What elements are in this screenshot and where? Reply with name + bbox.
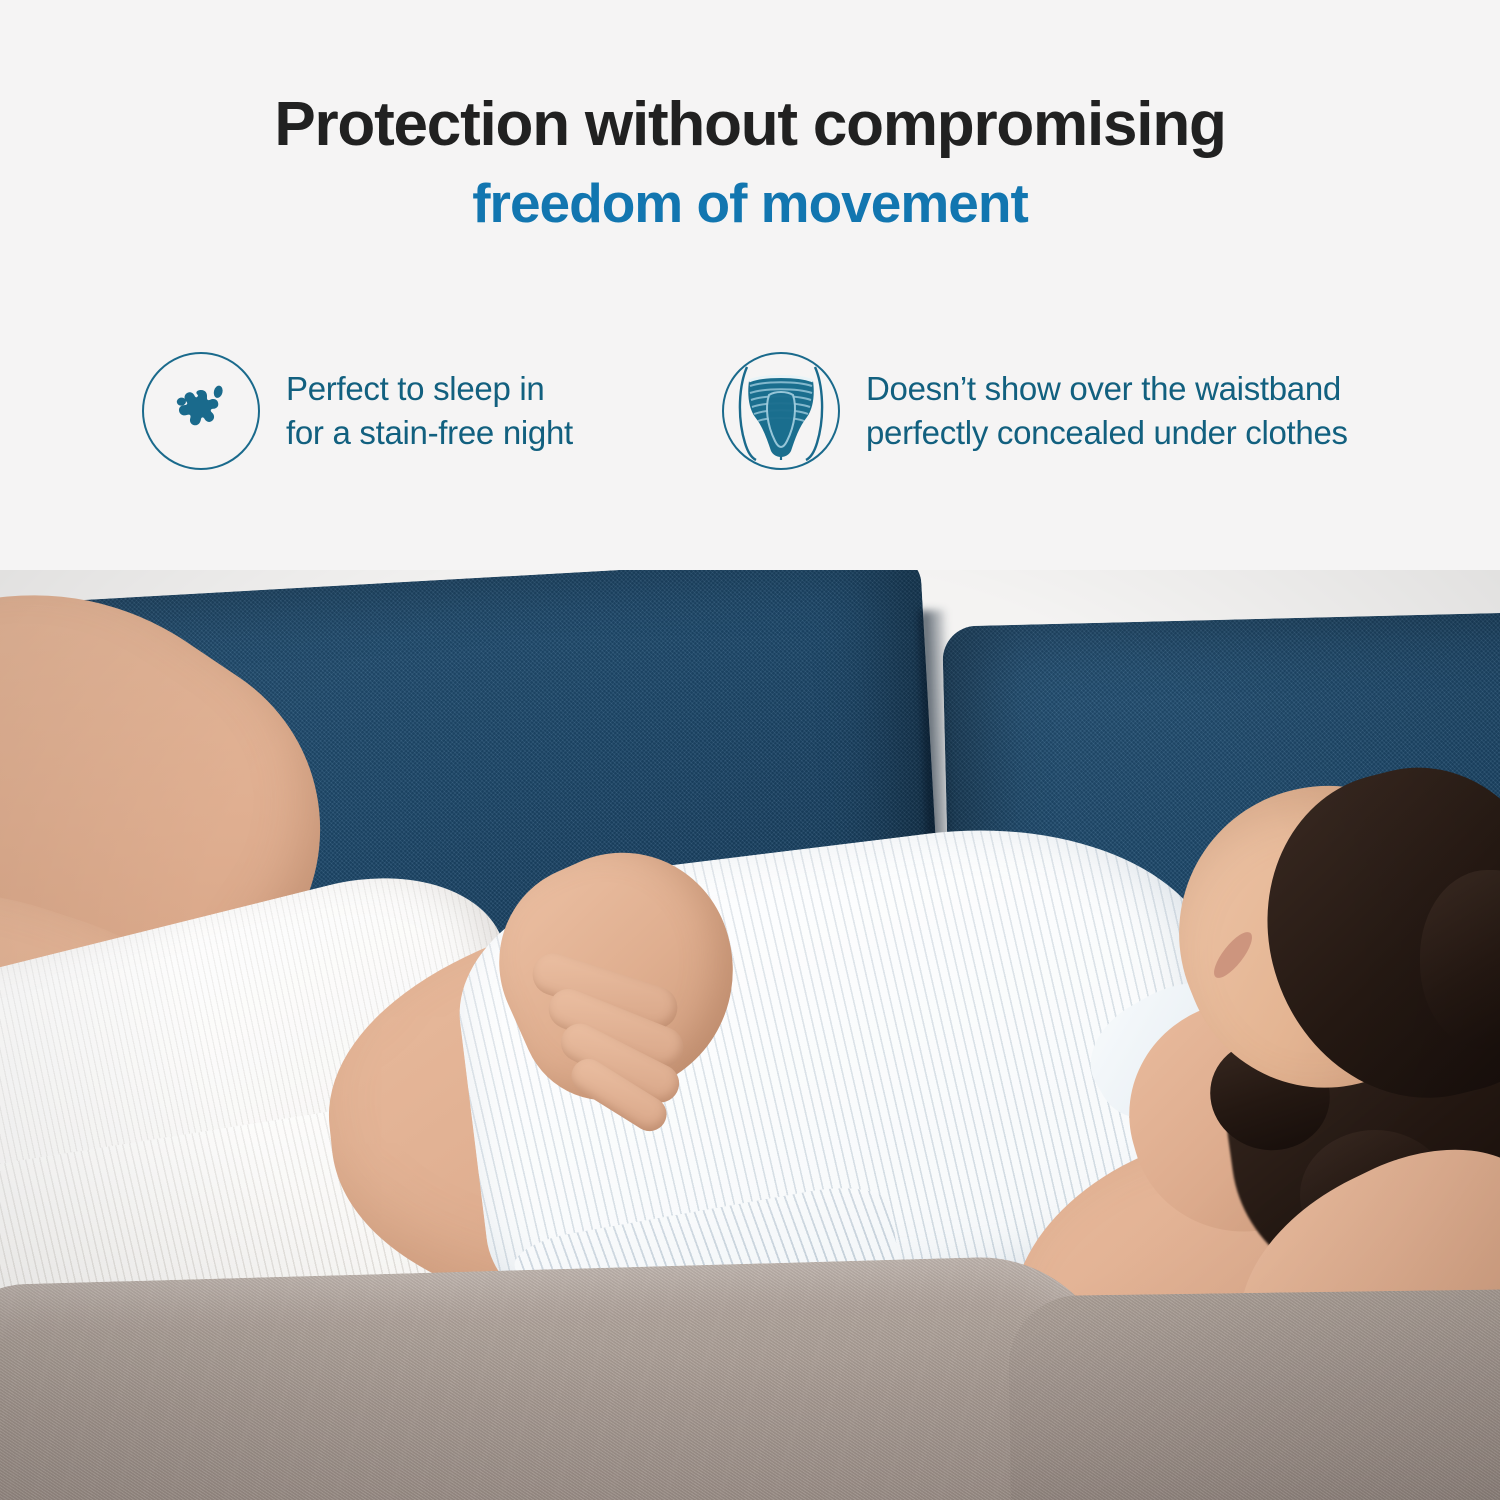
brief-underwear-icon <box>722 352 840 470</box>
headline-line-1: Protection without compromising <box>0 92 1500 159</box>
sofa-seat-left <box>0 1254 1124 1500</box>
feature-text-sleep: Perfect to sleep in for a stain-free nig… <box>286 367 573 455</box>
feature-text-concealed-line-2: perfectly concealed under clothes <box>866 411 1348 455</box>
ad-creative-root: Protection without compromising freedom … <box>0 0 1500 1500</box>
splash-droplet-icon <box>142 352 260 470</box>
feature-text-sleep-line-1: Perfect to sleep in <box>286 367 573 411</box>
page-title: Protection without compromising freedom … <box>0 92 1500 235</box>
headline-line-2: freedom of movement <box>0 173 1500 235</box>
sofa-seat-right <box>1008 1288 1500 1500</box>
lifestyle-photo <box>0 570 1500 1500</box>
header-panel: Protection without compromising freedom … <box>0 0 1500 572</box>
feature-item-sleep: Perfect to sleep in for a stain-free nig… <box>142 352 573 470</box>
feature-text-sleep-line-2: for a stain-free night <box>286 411 573 455</box>
feature-text-concealed: Doesn’t show over the waistband perfectl… <box>866 367 1348 455</box>
feature-text-concealed-line-1: Doesn’t show over the waistband <box>866 367 1348 411</box>
feature-list: Perfect to sleep in for a stain-free nig… <box>0 352 1500 492</box>
feature-item-concealed: Doesn’t show over the waistband perfectl… <box>722 352 1348 470</box>
